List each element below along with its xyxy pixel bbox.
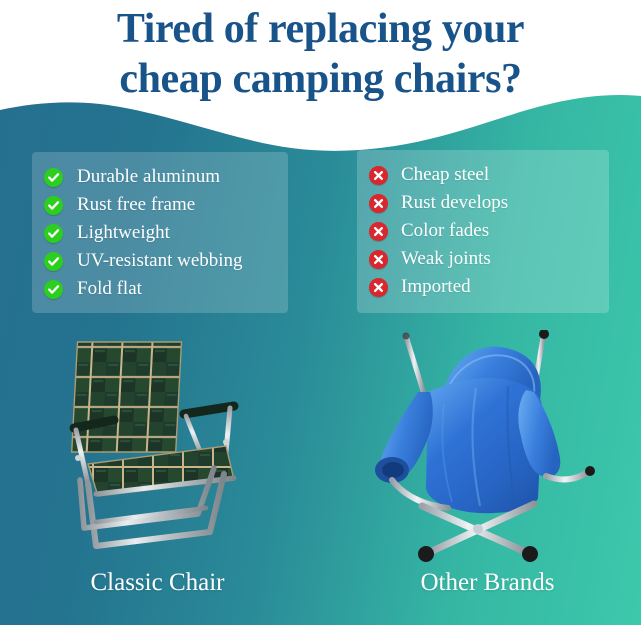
cons-item-label: Rust develops <box>401 193 508 213</box>
pros-list-item: Lightweight <box>44 219 274 247</box>
pros-item-label: UV-resistant webbing <box>77 251 243 271</box>
x-circle-icon <box>369 166 388 185</box>
page-title: Tired of replacing your cheap camping ch… <box>0 4 641 104</box>
pros-list-item: Rust free frame <box>44 191 274 219</box>
cons-item-label: Cheap steel <box>401 165 489 185</box>
pros-item-label: Durable aluminum <box>77 167 220 187</box>
check-circle-icon <box>44 252 63 271</box>
other-brands-chair-image <box>348 330 610 566</box>
pros-item-label: Rust free frame <box>77 195 195 215</box>
pros-list-item: Fold flat <box>44 275 274 303</box>
cons-list-item: Imported <box>369 273 595 301</box>
check-circle-icon <box>44 196 63 215</box>
classic-chair-caption: Classic Chair <box>20 569 295 597</box>
poster-canvas: Tired of replacing your cheap camping ch… <box>0 0 641 625</box>
headline-line-1: Tired of replacing your <box>0 4 641 54</box>
check-circle-icon <box>44 224 63 243</box>
check-circle-icon <box>44 168 63 187</box>
pros-item-label: Lightweight <box>77 223 170 243</box>
x-circle-icon <box>369 222 388 241</box>
cons-list-item: Color fades <box>369 217 595 245</box>
cons-item-label: Weak joints <box>401 249 491 269</box>
pros-item-label: Fold flat <box>77 279 142 299</box>
cons-item-label: Imported <box>401 277 471 297</box>
check-circle-icon <box>44 280 63 299</box>
pros-list-item: Durable aluminum <box>44 163 274 191</box>
cons-item-label: Color fades <box>401 221 489 241</box>
x-circle-icon <box>369 278 388 297</box>
cons-list-item: Rust develops <box>369 189 595 217</box>
cons-list-item: Weak joints <box>369 245 595 273</box>
x-circle-icon <box>369 250 388 269</box>
headline-line-2: cheap camping chairs? <box>0 54 641 104</box>
pros-list-item: UV-resistant webbing <box>44 247 274 275</box>
pros-panel: Durable aluminum Rust free frame Lightwe… <box>32 152 288 313</box>
other-brands-caption: Other Brands <box>350 569 625 597</box>
cons-panel: Cheap steel Rust develops Color fades <box>357 150 609 313</box>
x-circle-icon <box>369 194 388 213</box>
cons-list-item: Cheap steel <box>369 161 595 189</box>
classic-chair-image <box>48 332 288 564</box>
